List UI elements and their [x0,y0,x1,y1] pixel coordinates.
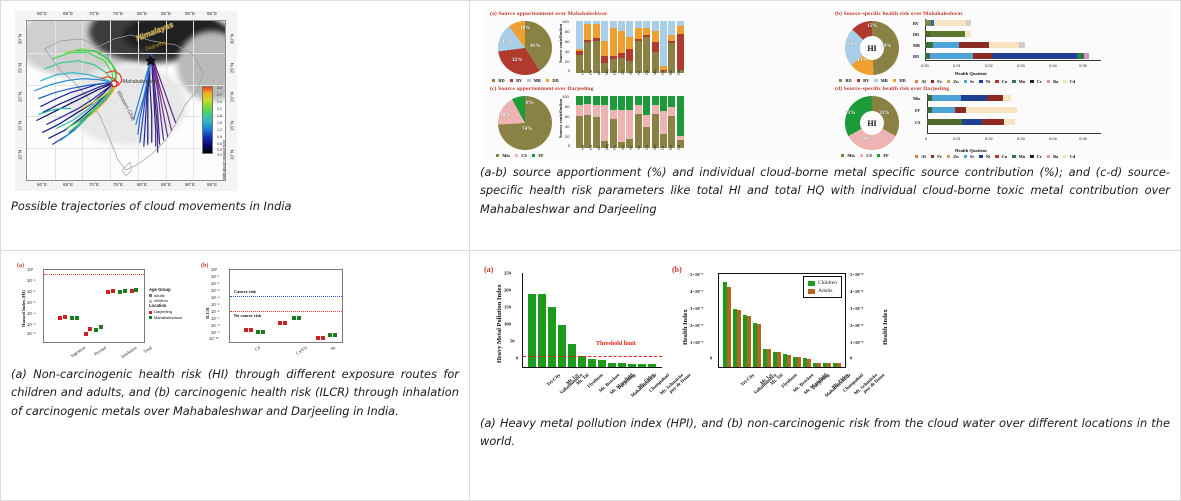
caption-hpi: (a) Heavy metal pollution index (HPI), a… [480,414,1170,451]
map-y-ticks-left: 30°N25°N 20°N15°N 10°N [15,20,24,181]
panel-d-hbar-chart: Mix FF CS 00.01 0.020.03 0.040.05 [911,94,1101,142]
panel-c: (c) Source apportionment over Darjeeling… [482,84,824,159]
hr-panel-b-ylabel: ILCR [205,308,210,320]
bar-adults [757,324,761,367]
bar-adults [817,363,821,367]
caption-health-risk: (a) Non-carcinogenic health risk (HI) th… [11,365,459,420]
bar-adults [737,310,741,367]
bar-hpi [588,359,596,367]
hr-panel-b-annot-cancer: Cancer risk [234,289,256,294]
hpi-figure: (a) Heavy Metal Pollution Index 250 200 … [484,263,874,408]
figure-grid: 60°E65°E70°E 75°E80°E85°E 90°E95°E 60°E6… [0,0,1181,501]
hr-panel-b-plot: Cancer risk No cancer risk [229,269,343,343]
map-plot-area: Himalayas Darjeeling Mahabaleshwar Weste… [26,20,226,181]
hpi-panel-b-plot: Children Adults [718,273,846,368]
panel-d-xlabel: Health Quotient [955,148,987,153]
caption-source-apportionment: (a-b) source apportionment (%) and indiv… [480,163,1170,218]
panel-b-donut-value-1: 23% [847,41,857,47]
hpi-panel-a-label: (a) [484,265,493,274]
bar-adults [767,349,771,367]
panel-a-pie-value-1: 32% [512,57,522,63]
hr-legend: Age Group adults children Location Darje… [149,287,182,320]
hpi-threshold-label: Threshold limit [596,341,636,347]
panel-d-donut-value-1: 34% [861,136,871,142]
bar-adults [797,357,801,367]
caption-map: Possible trajectories of cloud movements… [11,197,459,215]
panel-b-hbar-chart: BV DD MR RD 0.000.01 [911,19,1101,67]
figure-cell-health-risk: (a) Hazard Index (HI) 10⁰ 10⁻¹ 10⁻² 10⁻³… [0,251,470,501]
panel-a: (a) Source apportionment over Mahabalesh… [482,9,824,84]
map-colorbar [202,86,213,154]
panel-c-pie-value-2: 8% [526,100,534,106]
bar-hpi [618,363,626,367]
map-colorbar-ticks: 3.02.72.4 2.11.81.5 1.20.90.6 0.30.0 [213,86,222,156]
bar-hpi [628,364,636,367]
panel-d: (d) Source-specific health risk over Dar… [827,84,1169,159]
panel-a-title: (a) Source apportionment over Mahabalesh… [490,11,608,17]
panel-b-xlabel: Health Quotient [955,71,987,76]
hpi-threshold-line [523,356,662,357]
india-trajectory-map: 60°E65°E70°E 75°E80°E85°E 90°E95°E 60°E6… [15,11,237,191]
bar-adults [827,363,831,367]
bar-adults [837,363,841,367]
bar-adults [777,352,781,367]
composite-figure-abcd: (a) Source apportionment over Mahabalesh… [482,9,1172,159]
hr-panel-b-nocancer-line [230,311,342,312]
bar-adults [727,287,731,367]
panel-c-title: (c) Source apportionment over Darjeeling [490,86,594,92]
panel-a-ylabel: Source contribution [558,24,563,63]
bar-hpi [548,307,556,367]
hpi-panel-a-axes [522,273,662,368]
bar-hpi [598,360,606,367]
panel-a-pie-value-3: 10% [520,25,530,31]
hr-panel-a-plot [43,269,145,343]
hr-panel-a-threshold [44,274,144,275]
panel-d-donut: HI [845,96,899,150]
panel-d-legend-sources: Mix CS FF [841,153,891,158]
bar-hpi [608,363,616,367]
panel-b-title: (b) Source-specific health risk over Mah… [835,11,963,17]
figure-cell-map: 60°E65°E70°E 75°E80°E85°E 90°E95°E 60°E6… [0,0,470,251]
map-x-ticks-bottom: 60°E65°E70°E 75°E80°E85°E 90°E95°E [26,182,226,191]
panel-b-donut-value-0: 49% [881,43,891,49]
panel-a-pie-value-0: 41% [530,43,540,49]
bar-hpi [648,364,656,367]
hpi-panel-b-legend: Children Adults [803,276,842,298]
panel-a-legend: RD BV MR DD [492,78,561,83]
panel-c-pie [498,96,552,150]
panel-c-stacked-bars [576,96,684,148]
panel-d-legend-metals: Al Fe Zn Sr Ni Cu Mn Cr Ba Cd [915,154,1077,159]
panel-c-ylabel: Source contribution [558,99,563,138]
hpi-panel-a-plot [522,273,662,368]
hr-panel-b-cancer-line [230,296,342,297]
panel-a-stacked-bars [576,21,684,73]
figure-cell-hpi: (a) Heavy Metal Pollution Index 250 200 … [470,251,1181,501]
hpi-panel-b-label: (b) [672,265,682,274]
panel-c-pie-value-1: 18% [500,112,510,118]
bar-adults [807,359,811,367]
bar-hpi [638,364,646,367]
panel-c-legend: Mix CS FF [496,153,546,158]
panel-d-donut-value-2: 33% [845,110,855,116]
panel-b-donut-value-2: 13% [857,57,867,63]
hr-panel-a-ylabel: Hazard Index (HI) [21,290,26,327]
panel-c-pie-value-0: 74% [522,126,532,132]
panel-d-title: (d) Source-specific health risk over Dar… [835,86,949,92]
hpi-panel-b-ylabel: Health Index [682,309,689,345]
hr-panel-a-label: (a) [17,263,24,269]
panel-a-pie-value-2: 17% [502,39,512,45]
panel-b: (b) Source-specific health risk over Mah… [827,9,1169,84]
bar-adults [747,316,751,367]
map-x-ticks-top: 60°E65°E70°E 75°E80°E85°E 90°E95°E [26,11,226,20]
hr-panel-b-annot-nocancer: No cancer risk [234,313,261,318]
hpi-panel-a-ylabel: Heavy Metal Pollution Index [496,284,503,363]
figure-cell-source-apportionment: (a) Source apportionment over Mahabalesh… [470,0,1181,251]
panel-d-donut-value-0: 33% [879,110,889,116]
bar-adults [787,355,791,367]
map-y-ticks-right: 30°N25°N 20°N15°N 10°N [228,20,237,181]
map-label-mahabaleshwar: Mahabaleshwar [123,79,158,85]
panel-b-donut-value-3: 15% [867,23,877,29]
bar-hpi [558,325,566,367]
health-risk-figure: (a) Hazard Index (HI) 10⁰ 10⁻¹ 10⁻² 10⁻³… [15,261,360,361]
bar-hpi [578,356,586,367]
map-colorbar-title: Height above ground (km) [222,140,226,181]
hr-panel-b-label: (b) [201,263,208,269]
panel-b-legend-sources: RD BV MR DD [839,78,908,83]
hpi-panel-b-ylabel-right: Health Index [882,309,889,345]
